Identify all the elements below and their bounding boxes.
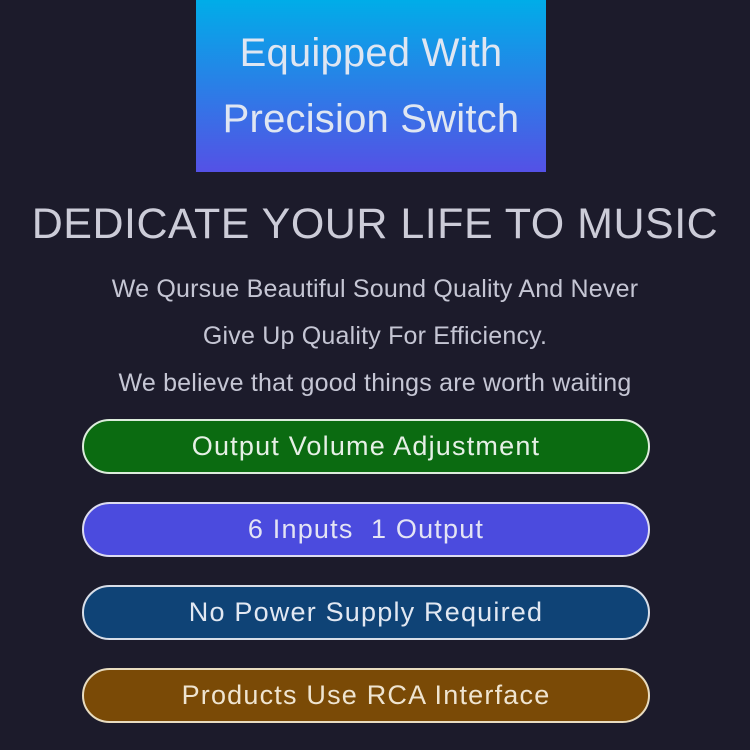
hero-banner: Equipped With Precision Switch — [196, 0, 546, 172]
feature-pill-label: Products Use RCA Interface — [182, 680, 551, 711]
page-title: DEDICATE YOUR LIFE TO MUSIC — [0, 198, 750, 250]
feature-pill-rca-interface[interactable]: Products Use RCA Interface — [82, 668, 650, 723]
feature-pill-label: No Power Supply Required — [189, 597, 543, 628]
tagline-line-2: Give Up Quality For Efficiency. — [0, 313, 750, 360]
feature-pill-output-volume-adjustment[interactable]: Output Volume Adjustment — [82, 419, 650, 474]
feature-pill-inputs-outputs[interactable]: 6 Inputs 1 Output — [82, 502, 650, 557]
tagline-line-3: We believe that good things are worth wa… — [0, 360, 750, 407]
feature-list: Output Volume Adjustment 6 Inputs 1 Outp… — [82, 419, 650, 723]
feature-pill-label: 6 Inputs 1 Output — [248, 514, 484, 545]
feature-pill-label: Output Volume Adjustment — [192, 431, 541, 462]
banner-line-2: Precision Switch — [223, 88, 520, 150]
feature-pill-no-power-supply-required[interactable]: No Power Supply Required — [82, 585, 650, 640]
banner-line-1: Equipped With — [240, 22, 503, 84]
tagline-line-1: We Qursue Beautiful Sound Quality And Ne… — [0, 266, 750, 313]
tagline-block: We Qursue Beautiful Sound Quality And Ne… — [0, 266, 750, 407]
